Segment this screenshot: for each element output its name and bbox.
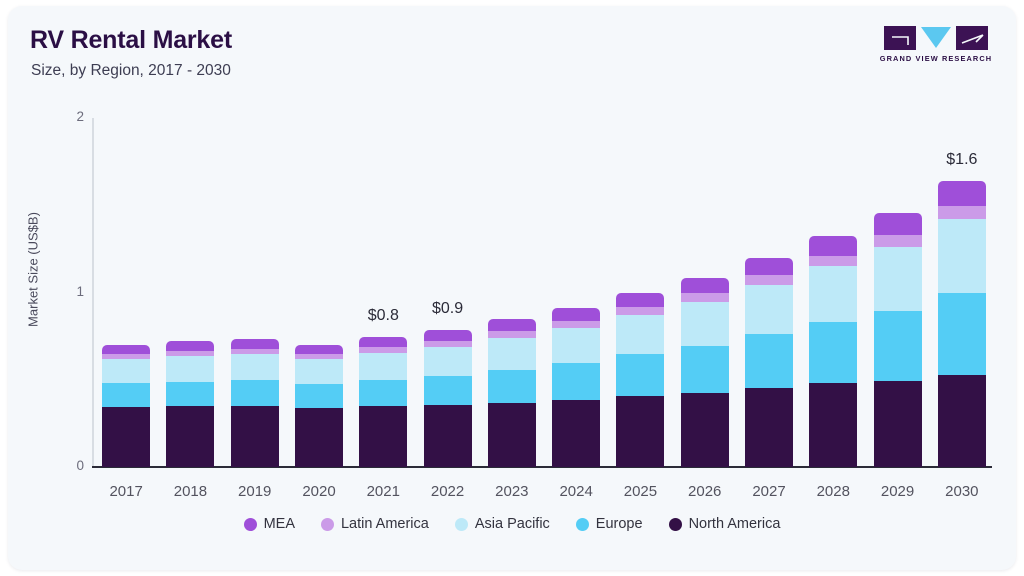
- bar-segment[interactable]: [809, 322, 857, 383]
- bar-segment[interactable]: [166, 406, 214, 467]
- bar-segment[interactable]: [616, 293, 664, 307]
- bar-segment[interactable]: [745, 285, 793, 334]
- bar-segment[interactable]: [809, 266, 857, 322]
- bar-segment[interactable]: [616, 315, 664, 354]
- bar-group[interactable]: [681, 118, 729, 467]
- legend-swatch-icon: [455, 518, 468, 531]
- bar-segment[interactable]: [488, 331, 536, 338]
- bar-segment[interactable]: [938, 375, 986, 467]
- bar-group[interactable]: [295, 118, 343, 467]
- bar-group[interactable]: [488, 118, 536, 467]
- bar-segment[interactable]: [552, 328, 600, 363]
- bar-segment[interactable]: [745, 388, 793, 467]
- bar-segment[interactable]: [874, 311, 922, 381]
- bar-segment[interactable]: [938, 293, 986, 375]
- bar-segment[interactable]: [488, 319, 536, 331]
- bar-segment[interactable]: [616, 354, 664, 396]
- bar-segment[interactable]: [231, 380, 279, 405]
- bar-segment[interactable]: [874, 247, 922, 311]
- legend-label: Latin America: [341, 516, 429, 532]
- bar-group[interactable]: [552, 118, 600, 467]
- legend-label: MEA: [264, 516, 295, 532]
- bar-segment[interactable]: [488, 338, 536, 370]
- bar-segment[interactable]: [295, 384, 343, 408]
- bar-group[interactable]: [616, 118, 664, 467]
- bar-segment[interactable]: [681, 393, 729, 467]
- bar-group[interactable]: [938, 118, 986, 467]
- bar-segment[interactable]: [359, 337, 407, 347]
- bar-segment[interactable]: [552, 363, 600, 400]
- bar-group[interactable]: [359, 118, 407, 467]
- bar-segment[interactable]: [809, 236, 857, 256]
- bar-segment[interactable]: [166, 356, 214, 381]
- legend-swatch-icon: [244, 518, 257, 531]
- bar-segment[interactable]: [552, 321, 600, 328]
- bar-segment[interactable]: [231, 354, 279, 380]
- bar-segment[interactable]: [295, 354, 343, 359]
- bar-segment[interactable]: [424, 330, 472, 341]
- bar-segment[interactable]: [359, 406, 407, 467]
- bar-segment[interactable]: [295, 345, 343, 354]
- bar-group[interactable]: [102, 118, 150, 467]
- y-axis-tick: 2: [44, 109, 84, 124]
- legend-swatch-icon: [576, 518, 589, 531]
- bar-segment[interactable]: [552, 308, 600, 321]
- bar-segment[interactable]: [359, 347, 407, 353]
- bar-segment[interactable]: [231, 349, 279, 355]
- bar-group[interactable]: [231, 118, 279, 467]
- legend-label: North America: [689, 516, 781, 532]
- bar-segment[interactable]: [681, 302, 729, 346]
- bar-segment[interactable]: [681, 278, 729, 294]
- y-axis-tick: 0: [44, 458, 84, 473]
- bar-segment[interactable]: [424, 341, 472, 347]
- bar-value-label: $0.9: [388, 300, 508, 318]
- legend-item[interactable]: MEA: [244, 516, 295, 532]
- bar-segment[interactable]: [681, 293, 729, 302]
- bar-segment[interactable]: [488, 403, 536, 467]
- bar-segment[interactable]: [874, 213, 922, 235]
- bar-segment[interactable]: [231, 406, 279, 467]
- bar-segment[interactable]: [102, 383, 150, 407]
- legend-item[interactable]: Asia Pacific: [455, 516, 550, 532]
- chart-plot-area: Market Size (US$B) 012 20172018201920202…: [8, 6, 1016, 570]
- bar-segment[interactable]: [102, 407, 150, 467]
- bar-segment[interactable]: [809, 383, 857, 467]
- bar-segment[interactable]: [166, 341, 214, 350]
- bar-segment[interactable]: [295, 359, 343, 384]
- legend-label: Asia Pacific: [475, 516, 550, 532]
- bar-segment[interactable]: [295, 408, 343, 467]
- y-axis-label: Market Size (US$B): [26, 180, 41, 360]
- bar-group[interactable]: [809, 118, 857, 467]
- bar-group[interactable]: [166, 118, 214, 467]
- legend-item[interactable]: North America: [669, 516, 781, 532]
- bar-segment[interactable]: [102, 354, 150, 359]
- bar-segment[interactable]: [488, 370, 536, 403]
- bar-segment[interactable]: [359, 380, 407, 406]
- bar-series-container: [94, 118, 994, 467]
- bar-segment[interactable]: [424, 347, 472, 377]
- bar-group[interactable]: [874, 118, 922, 467]
- bar-segment[interactable]: [745, 334, 793, 388]
- bar-segment[interactable]: [166, 351, 214, 356]
- bar-segment[interactable]: [102, 359, 150, 383]
- legend-item[interactable]: Latin America: [321, 516, 429, 532]
- bar-segment[interactable]: [809, 256, 857, 266]
- bar-segment[interactable]: [938, 219, 986, 292]
- legend-swatch-icon: [321, 518, 334, 531]
- bar-segment[interactable]: [424, 376, 472, 405]
- bar-segment[interactable]: [424, 405, 472, 467]
- x-axis-tick: 2030: [917, 483, 1007, 500]
- chart-screenshot: RV Rental Market Size, by Region, 2017 -…: [0, 0, 1024, 576]
- bar-segment[interactable]: [552, 400, 600, 467]
- legend-item[interactable]: Europe: [576, 516, 643, 532]
- bar-group[interactable]: [424, 118, 472, 467]
- legend-label: Europe: [596, 516, 643, 532]
- legend-swatch-icon: [669, 518, 682, 531]
- chart-card: RV Rental Market Size, by Region, 2017 -…: [8, 6, 1016, 570]
- bar-segment[interactable]: [745, 258, 793, 275]
- bar-segment[interactable]: [745, 275, 793, 285]
- bar-segment[interactable]: [616, 307, 664, 315]
- bar-group[interactable]: [745, 118, 793, 467]
- chart-legend: MEALatin AmericaAsia PacificEuropeNorth …: [8, 516, 1016, 532]
- bar-segment[interactable]: [874, 381, 922, 467]
- bar-segment[interactable]: [938, 206, 986, 220]
- bar-segment[interactable]: [874, 235, 922, 247]
- bar-segment[interactable]: [938, 181, 986, 206]
- bar-segment[interactable]: [231, 339, 279, 349]
- bar-segment[interactable]: [102, 345, 150, 354]
- bar-segment[interactable]: [681, 346, 729, 393]
- y-axis-tick: 1: [44, 284, 84, 299]
- bar-segment[interactable]: [359, 353, 407, 380]
- bar-segment[interactable]: [616, 396, 664, 467]
- bar-segment[interactable]: [166, 382, 214, 406]
- bar-value-label: $1.6: [902, 151, 1016, 169]
